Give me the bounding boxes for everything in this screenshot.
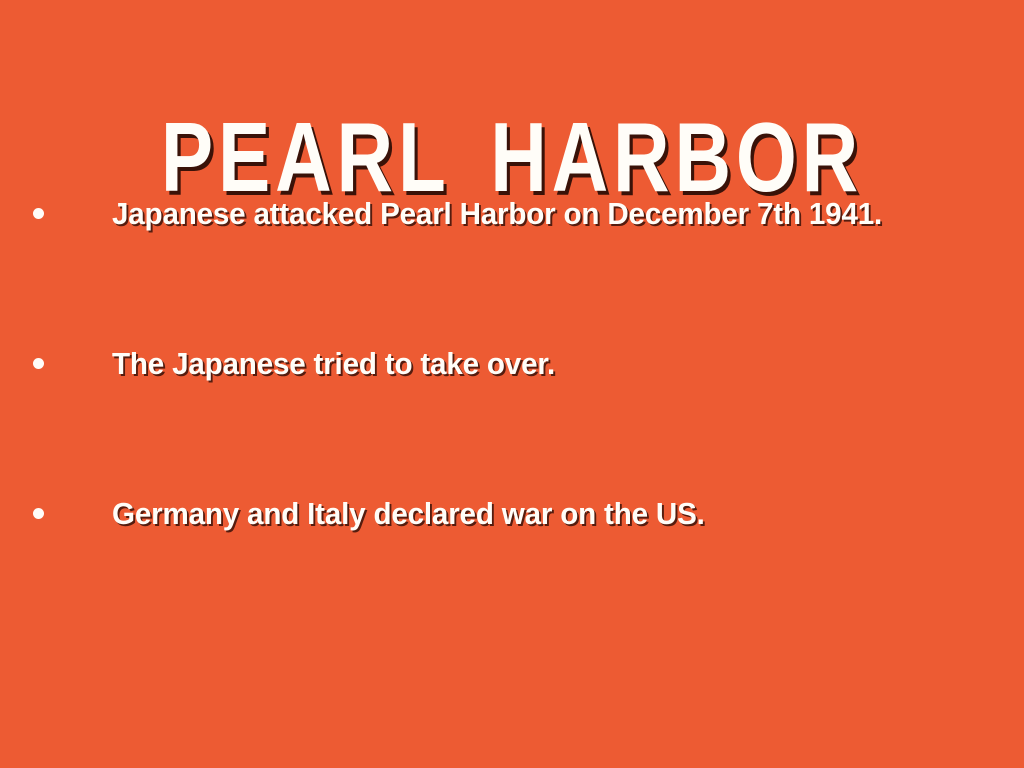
list-item-text: Japanese attacked Pearl Harbor on Decemb…	[112, 196, 882, 232]
bullet-dot-icon	[33, 208, 44, 219]
list-item-text: The Japanese tried to take over.	[112, 346, 555, 382]
page-title: PEARL HARBOR	[102, 108, 921, 206]
bullet-dot-icon	[33, 358, 44, 369]
list-item: Japanese attacked Pearl Harbor on Decemb…	[0, 196, 1024, 346]
presentation-slide: PEARL HARBOR Japanese attacked Pearl Har…	[0, 0, 1024, 768]
bullet-list: Japanese attacked Pearl Harbor on Decemb…	[0, 196, 1024, 646]
list-item: The Japanese tried to take over.	[0, 346, 1024, 496]
bullet-dot-icon	[33, 508, 44, 519]
list-item: Germany and Italy declared war on the US…	[0, 496, 1024, 646]
list-item-text: Germany and Italy declared war on the US…	[112, 496, 705, 532]
